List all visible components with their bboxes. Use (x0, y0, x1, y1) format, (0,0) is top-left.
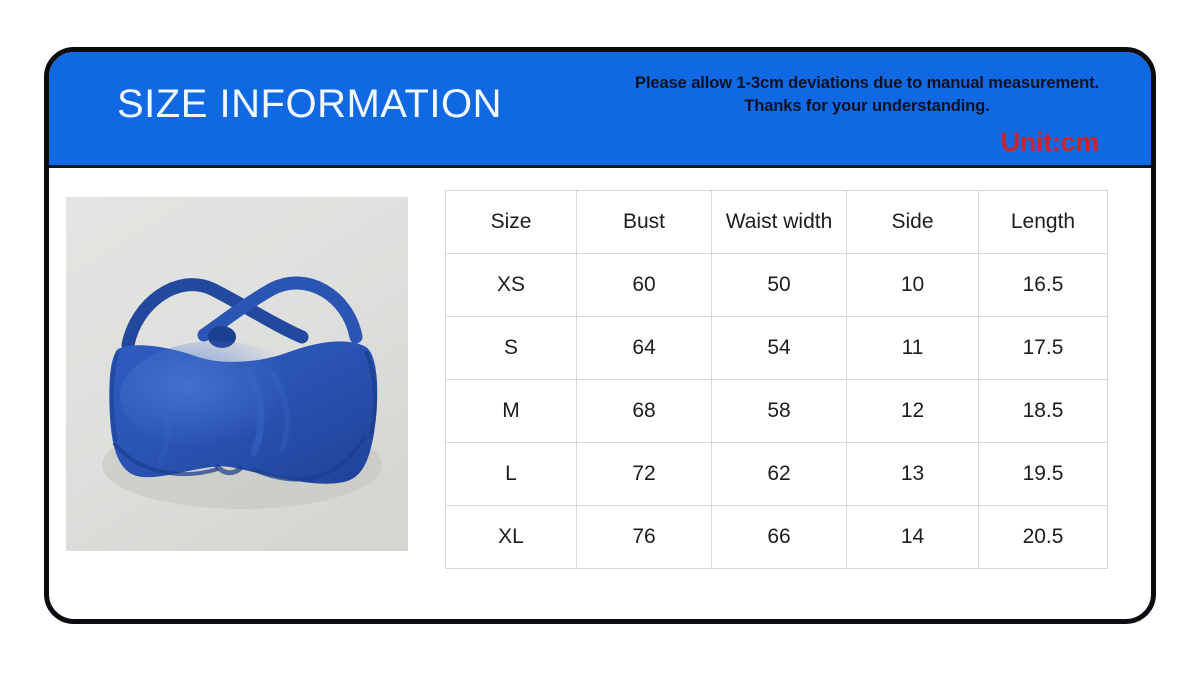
cell-length: 20.5 (979, 506, 1108, 569)
table-header-row: Size Bust Waist width Side Length (446, 191, 1108, 254)
cell-size: L (446, 443, 577, 506)
table-row: XS 60 50 10 16.5 (446, 254, 1108, 317)
cell-waist: 50 (712, 254, 847, 317)
cell-length: 17.5 (979, 317, 1108, 380)
cell-side: 11 (847, 317, 979, 380)
column-header-side: Side (847, 191, 979, 254)
size-information-card: SIZE INFORMATION Please allow 1-3cm devi… (44, 47, 1156, 624)
column-header-bust: Bust (577, 191, 712, 254)
unit-label: Unit:cm (1001, 127, 1099, 158)
measurement-notice: Please allow 1-3cm deviations due to man… (589, 72, 1145, 119)
size-table: Size Bust Waist width Side Length XS 60 … (445, 190, 1108, 569)
table-row: S 64 54 11 17.5 (446, 317, 1108, 380)
cell-waist: 58 (712, 380, 847, 443)
cell-size: S (446, 317, 577, 380)
cell-size: XS (446, 254, 577, 317)
column-header-size: Size (446, 191, 577, 254)
cell-length: 19.5 (979, 443, 1108, 506)
cell-bust: 72 (577, 443, 712, 506)
table-row: M 68 58 12 18.5 (446, 380, 1108, 443)
card-body: Size Bust Waist width Side Length XS 60 … (49, 168, 1151, 620)
cell-side: 12 (847, 380, 979, 443)
cell-bust: 60 (577, 254, 712, 317)
cell-side: 13 (847, 443, 979, 506)
cell-waist: 66 (712, 506, 847, 569)
card-header: SIZE INFORMATION Please allow 1-3cm devi… (49, 52, 1151, 168)
table-row: XL 76 66 14 20.5 (446, 506, 1108, 569)
column-header-waist: Waist width (712, 191, 847, 254)
cell-size: M (446, 380, 577, 443)
cell-length: 16.5 (979, 254, 1108, 317)
cell-bust: 68 (577, 380, 712, 443)
measurement-notice-line-1: Please allow 1-3cm deviations due to man… (589, 72, 1145, 95)
cell-side: 14 (847, 506, 979, 569)
table-row: L 72 62 13 19.5 (446, 443, 1108, 506)
cell-length: 18.5 (979, 380, 1108, 443)
page-title: SIZE INFORMATION (117, 82, 502, 127)
product-photo-illustration (66, 197, 408, 551)
cell-bust: 76 (577, 506, 712, 569)
cell-bust: 64 (577, 317, 712, 380)
cell-side: 10 (847, 254, 979, 317)
product-photo (66, 197, 408, 551)
cell-size: XL (446, 506, 577, 569)
column-header-length: Length (979, 191, 1108, 254)
cell-waist: 62 (712, 443, 847, 506)
cell-waist: 54 (712, 317, 847, 380)
size-table-container: Size Bust Waist width Side Length XS 60 … (445, 190, 1107, 569)
measurement-notice-line-2: Thanks for your understanding. (589, 95, 1145, 118)
size-information-page: SIZE INFORMATION Please allow 1-3cm devi… (0, 0, 1200, 675)
